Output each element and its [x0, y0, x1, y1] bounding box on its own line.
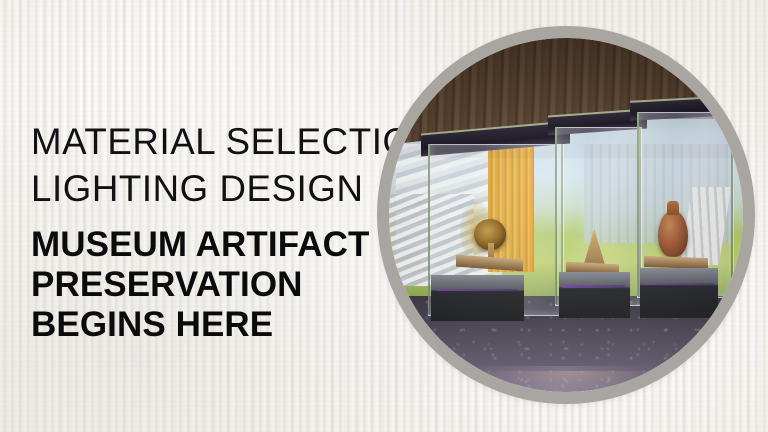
museum-gallery-photo [389, 38, 743, 392]
headline-block: MATERIAL SELECTION LIGHTING DESIGN MUSEU… [31, 118, 381, 345]
floor-reflection [488, 371, 658, 392]
artifact-terracotta-vase [658, 211, 688, 257]
circular-photo-frame [377, 26, 755, 404]
display-case-1-mullion-left [428, 144, 430, 314]
display-case-2-base [559, 272, 630, 318]
headline-light-line-2: LIGHTING DESIGN [31, 165, 378, 212]
display-case-1-base [431, 275, 523, 321]
headline-bold-group: MUSEUM ARTIFACT PRESERVATION BEGINS HERE [31, 225, 381, 345]
slide-canvas: MATERIAL SELECTION LIGHTING DESIGN MUSEU… [0, 0, 768, 432]
headline-bold-line-3: BEGINS HERE [31, 305, 381, 345]
display-case-2-mullion-left [555, 127, 557, 304]
display-case-3-mullion-right [731, 112, 733, 296]
headline-bold-line-1: MUSEUM ARTIFACT [31, 225, 381, 265]
display-case-3-base [640, 268, 718, 318]
headline-bold-line-2: PRESERVATION [31, 265, 381, 305]
headline-light-line-1: MATERIAL SELECTION [31, 118, 378, 165]
artifact-vase-neck [667, 201, 679, 215]
display-case-3-mullion-left [637, 112, 639, 296]
photo-scene [389, 38, 743, 392]
